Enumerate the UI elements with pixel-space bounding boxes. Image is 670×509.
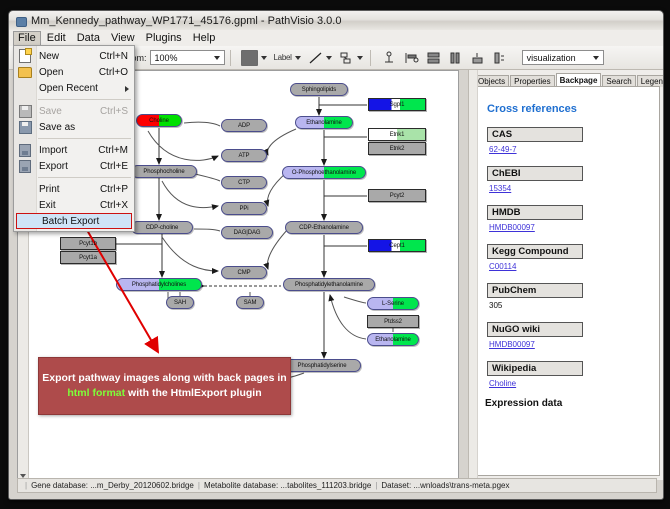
menu-item-print[interactable]: Print Ctrl+P bbox=[14, 181, 134, 197]
blank-icon bbox=[17, 213, 39, 229]
status-divider: | bbox=[375, 481, 377, 490]
anchor-button[interactable] bbox=[381, 49, 398, 66]
app-icon bbox=[15, 15, 26, 26]
pathway-node-pcyt2[interactable]: Pcyt2 bbox=[368, 189, 426, 202]
pathway-node-label: PPi bbox=[239, 206, 248, 212]
pathway-node-label: CDP-choline bbox=[146, 225, 179, 231]
pathway-node-label: SAM bbox=[244, 300, 257, 306]
pathway-node-pcyt1a[interactable]: Pcyt1a bbox=[60, 251, 116, 264]
menu-item-open[interactable]: Open Ctrl+O bbox=[14, 64, 134, 80]
menu-item-open-recent[interactable]: Open Recent bbox=[14, 80, 134, 96]
xref-value-wikipedia[interactable]: Choline bbox=[489, 379, 659, 388]
align-center-icon bbox=[426, 51, 441, 65]
pathway-node-label: Ethanolamine bbox=[375, 337, 411, 343]
callout-annotation: Export pathway images along with back pa… bbox=[38, 357, 291, 415]
xref-name-chebi: ChEBI bbox=[487, 166, 583, 181]
pathway-node-cdp-ethanolamine[interactable]: CDP-Ethanolamine bbox=[285, 221, 363, 234]
order-icon bbox=[492, 51, 507, 65]
menu-edit[interactable]: Edit bbox=[42, 31, 71, 46]
menu-item-new[interactable]: New Ctrl+N bbox=[14, 48, 134, 64]
menu-item-shortcut: Ctrl+M bbox=[98, 145, 134, 156]
pathway-node-label: CTP bbox=[238, 180, 250, 186]
gene-product-icon bbox=[241, 50, 258, 66]
pathway-node-ethanolamine-2[interactable]: Ethanolamine bbox=[367, 333, 419, 346]
menu-item-label: Save bbox=[36, 106, 100, 117]
pathway-node-label: Ptdss2 bbox=[384, 319, 402, 325]
menu-data[interactable]: Data bbox=[72, 31, 105, 46]
align-center-button[interactable] bbox=[425, 49, 442, 66]
pathway-node-o-phosphoethanolamine[interactable]: O-Phosphoethanolamine bbox=[282, 166, 366, 179]
visualization-combo[interactable]: visualization bbox=[522, 50, 604, 65]
pathway-node-label: CMP bbox=[237, 270, 250, 276]
pathway-node-phosphatidylcholines[interactable]: Phosphatidylcholines bbox=[116, 278, 202, 291]
xref-name-cas: CAS bbox=[487, 127, 583, 142]
import-icon bbox=[14, 142, 36, 158]
pathway-node-cmp[interactable]: CMP bbox=[221, 266, 267, 279]
side-panel-scrollbar[interactable] bbox=[469, 70, 478, 480]
status-gene-database: Gene database: ...m_Derby_20120602.bridg… bbox=[31, 481, 194, 490]
title-bar: Mm_Kennedy_pathway_WP1771_45176.gpml - P… bbox=[9, 11, 663, 31]
tab-backpage[interactable]: Backpage bbox=[556, 73, 602, 87]
pathway-node-cdp-choline[interactable]: CDP-choline bbox=[131, 221, 193, 234]
pathway-node-pcyt1b[interactable]: Pcyt1b bbox=[60, 237, 116, 250]
pathway-node-sah[interactable]: SAH bbox=[166, 296, 194, 309]
pathway-node-label: Cept1 bbox=[389, 243, 405, 249]
pathway-node-ethanolamine-1[interactable]: Ethanolamine bbox=[295, 116, 353, 129]
menu-plugins[interactable]: Plugins bbox=[141, 31, 187, 46]
pathway-node-ptdss2[interactable]: Ptdss2 bbox=[367, 315, 419, 328]
cross-references-heading: Cross references bbox=[487, 103, 659, 115]
save-icon bbox=[14, 103, 36, 119]
pathway-node-choline-top[interactable]: Choline bbox=[136, 114, 182, 127]
pathway-node-dagdag[interactable]: DAG|DAG bbox=[221, 226, 273, 239]
pathway-node-label: DAG|DAG bbox=[234, 230, 261, 236]
pathway-node-label: Phosphatidylethanolamine bbox=[295, 282, 363, 288]
side-panel: Objects Properties Backpage Search Legen… bbox=[468, 70, 664, 480]
chevron-down-icon bbox=[357, 56, 363, 60]
pathway-node-label: O-Phosphoethanolamine bbox=[292, 170, 356, 176]
blank-icon bbox=[14, 80, 36, 96]
label-button-text: Label bbox=[274, 53, 292, 62]
chevron-down-icon bbox=[326, 56, 332, 60]
pathway-node-label: Phosphatidylcholines bbox=[132, 282, 186, 288]
pathway-node-label: CDP-Ethanolamine bbox=[299, 225, 349, 231]
toolbar-divider bbox=[230, 50, 231, 66]
folder-open-icon bbox=[14, 64, 36, 80]
pathway-node-label: Phosphocholine bbox=[143, 169, 184, 175]
menu-item-shortcut: Ctrl+E bbox=[100, 161, 134, 172]
callout-text-1: Export pathway images along with back pa… bbox=[42, 372, 286, 384]
label-button[interactable]: Label bbox=[274, 49, 303, 66]
pathway-node-label: Sgpl1 bbox=[390, 102, 405, 108]
menu-item-shortcut: Ctrl+O bbox=[99, 67, 134, 78]
pathway-node-cept1[interactable]: Cept1 bbox=[368, 239, 426, 252]
zoom-combo[interactable]: 100% bbox=[150, 50, 225, 65]
menu-divider bbox=[38, 99, 131, 100]
pathway-node-label: ADP bbox=[238, 123, 250, 129]
menu-item-label: Open Recent bbox=[36, 83, 128, 94]
xref-value-kegg-compound[interactable]: C00114 bbox=[489, 262, 659, 271]
blank-icon bbox=[14, 197, 36, 213]
menu-item-export[interactable]: Export Ctrl+E bbox=[14, 158, 134, 174]
xref-name-kegg-compound: Kegg Compound bbox=[487, 244, 583, 259]
status-divider: | bbox=[198, 481, 200, 490]
pathway-node-phosphatidylethanolamine[interactable]: Phosphatidylethanolamine bbox=[283, 278, 375, 291]
gene-product-button[interactable] bbox=[241, 49, 269, 66]
stack-icon bbox=[470, 51, 485, 65]
menu-item-label: Export bbox=[36, 161, 100, 172]
pathway-node-label: ATP bbox=[239, 153, 250, 159]
xref-name-wikipedia: Wikipedia bbox=[487, 361, 583, 376]
distribute-icon bbox=[448, 51, 463, 65]
menu-divider bbox=[38, 177, 131, 178]
pathway-node-sgpl1[interactable]: Sgpl1 bbox=[368, 98, 426, 111]
pathway-node-etnk2[interactable]: Etnk2 bbox=[368, 142, 426, 155]
pathway-node-ppi[interactable]: PPi bbox=[221, 202, 267, 215]
visualization-value: visualization bbox=[527, 53, 576, 63]
cross-reference-list: CAS62-49-7ChEBI15354HMDBHMDB00097Kegg Co… bbox=[475, 127, 659, 388]
pathway-node-label: Pcyt1b bbox=[79, 241, 97, 247]
save-as-icon bbox=[14, 119, 36, 135]
line-button[interactable] bbox=[308, 49, 334, 66]
menu-item-shortcut: Ctrl+P bbox=[100, 184, 134, 195]
pathway-node-label: Etnk2 bbox=[390, 146, 405, 152]
pathway-node-sam[interactable]: SAM bbox=[236, 296, 264, 309]
pathway-node-adp[interactable]: ADP bbox=[221, 119, 267, 132]
menu-divider bbox=[38, 138, 131, 139]
chevron-down-icon bbox=[261, 56, 267, 60]
zoom-value: 100% bbox=[155, 53, 178, 63]
pathway-node-label: Pcyt1a bbox=[79, 255, 97, 261]
pathway-node-label: Pcyt2 bbox=[390, 193, 405, 199]
file-menu-dropdown: New Ctrl+N Open Ctrl+O Open Recent Save … bbox=[13, 45, 135, 232]
xref-name-hmdb: HMDB bbox=[487, 205, 583, 220]
status-dataset: Dataset: ...wnloads\trans-meta.pgex bbox=[381, 481, 509, 490]
pathway-node-label: Choline bbox=[149, 118, 169, 124]
interaction-icon bbox=[339, 51, 354, 65]
pathway-node-label: Sphingolipids bbox=[302, 87, 336, 93]
pathway-node-label: L-Serine bbox=[382, 301, 404, 307]
pathway-node-atp[interactable]: ATP bbox=[221, 149, 267, 162]
menu-item-label: Print bbox=[36, 184, 100, 195]
menu-item-save[interactable]: Save Ctrl+S bbox=[14, 103, 134, 119]
menu-item-label: Open bbox=[36, 67, 99, 78]
menu-item-label: Exit bbox=[36, 200, 100, 211]
blank-icon bbox=[14, 181, 36, 197]
menu-item-save-as[interactable]: Save as bbox=[14, 119, 134, 135]
xref-value-hmdb[interactable]: HMDB00097 bbox=[489, 223, 659, 232]
menu-item-shortcut: Ctrl+N bbox=[99, 51, 134, 62]
menu-item-shortcut: Ctrl+X bbox=[100, 200, 134, 211]
status-divider: | bbox=[25, 481, 27, 490]
pathway-node-label: Phosphatidylserine bbox=[298, 363, 347, 369]
anchor-icon bbox=[382, 51, 396, 65]
menu-item-batch-export[interactable]: Batch Export bbox=[16, 213, 132, 229]
pathway-node-sphingolipids[interactable]: Sphingolipids bbox=[290, 83, 348, 96]
chevron-down-icon bbox=[295, 56, 301, 60]
pathway-node-phosphatidylserine[interactable]: Phosphatidylserine bbox=[283, 359, 361, 372]
chevron-down-icon bbox=[593, 56, 599, 60]
pathway-node-etnk1[interactable]: Etnk1 bbox=[368, 128, 426, 141]
xref-value-cas[interactable]: 62-49-7 bbox=[489, 145, 659, 154]
window-title: Mm_Kennedy_pathway_WP1771_45176.gpml - P… bbox=[31, 15, 341, 27]
menu-item-exit[interactable]: Exit Ctrl+X bbox=[14, 197, 134, 213]
menu-item-label: Import bbox=[36, 145, 98, 156]
status-metabolite-database: Metabolite database: ...tabolites_111203… bbox=[204, 481, 371, 490]
order-button[interactable] bbox=[491, 49, 508, 66]
pathvisio-window: Mm_Kennedy_pathway_WP1771_45176.gpml - P… bbox=[8, 10, 664, 500]
pathway-node-label: Ethanolamine bbox=[306, 120, 342, 126]
toolbar-divider bbox=[370, 50, 371, 66]
chevron-down-icon bbox=[214, 56, 220, 60]
menu-file[interactable]: File bbox=[13, 31, 41, 46]
align-left-icon bbox=[404, 51, 419, 65]
menu-item-import[interactable]: Import Ctrl+M bbox=[14, 142, 134, 158]
align-left-button[interactable] bbox=[403, 49, 420, 66]
export-icon bbox=[14, 158, 36, 174]
pathway-node-phosphocholine[interactable]: Phosphocholine bbox=[131, 165, 197, 178]
callout-text-2: with the HtmlExport plugin bbox=[125, 387, 262, 399]
expression-data-heading: Expression data bbox=[485, 398, 659, 409]
callout-highlight: html format bbox=[67, 387, 125, 399]
pathway-node-ctp[interactable]: CTP bbox=[221, 176, 267, 189]
pathway-node-label: Etnk1 bbox=[390, 132, 405, 138]
menu-help[interactable]: Help bbox=[188, 31, 221, 46]
distribute-button[interactable] bbox=[447, 49, 464, 66]
backpage-content: Cross references CAS62-49-7ChEBI15354HMD… bbox=[474, 86, 660, 476]
status-bar: | Gene database: ...m_Derby_20120602.bri… bbox=[17, 478, 657, 493]
menu-item-label: New bbox=[36, 51, 99, 62]
xref-name-pubchem: PubChem bbox=[487, 283, 583, 298]
interaction-button[interactable] bbox=[339, 49, 365, 66]
menu-item-label: Batch Export bbox=[39, 216, 125, 227]
menu-view[interactable]: View bbox=[106, 31, 140, 46]
xref-value-pubchem: 305 bbox=[489, 301, 659, 310]
screenshot-root: Mm_Kennedy_pathway_WP1771_45176.gpml - P… bbox=[0, 0, 670, 509]
xref-value-chebi[interactable]: 15354 bbox=[489, 184, 659, 193]
menu-item-label: Save as bbox=[36, 122, 128, 133]
new-document-icon bbox=[14, 48, 36, 64]
line-icon bbox=[308, 51, 323, 65]
stack-button[interactable] bbox=[469, 49, 486, 66]
xref-name-nugo-wiki: NuGO wiki bbox=[487, 322, 583, 337]
pathway-node-l-serine[interactable]: L-Serine bbox=[367, 297, 419, 310]
pathway-node-label: SAH bbox=[174, 300, 186, 306]
side-panel-tabs: Objects Properties Backpage Search Legen… bbox=[474, 73, 664, 87]
menu-item-shortcut: Ctrl+S bbox=[100, 106, 134, 117]
xref-value-nugo-wiki[interactable]: HMDB00097 bbox=[489, 340, 659, 349]
